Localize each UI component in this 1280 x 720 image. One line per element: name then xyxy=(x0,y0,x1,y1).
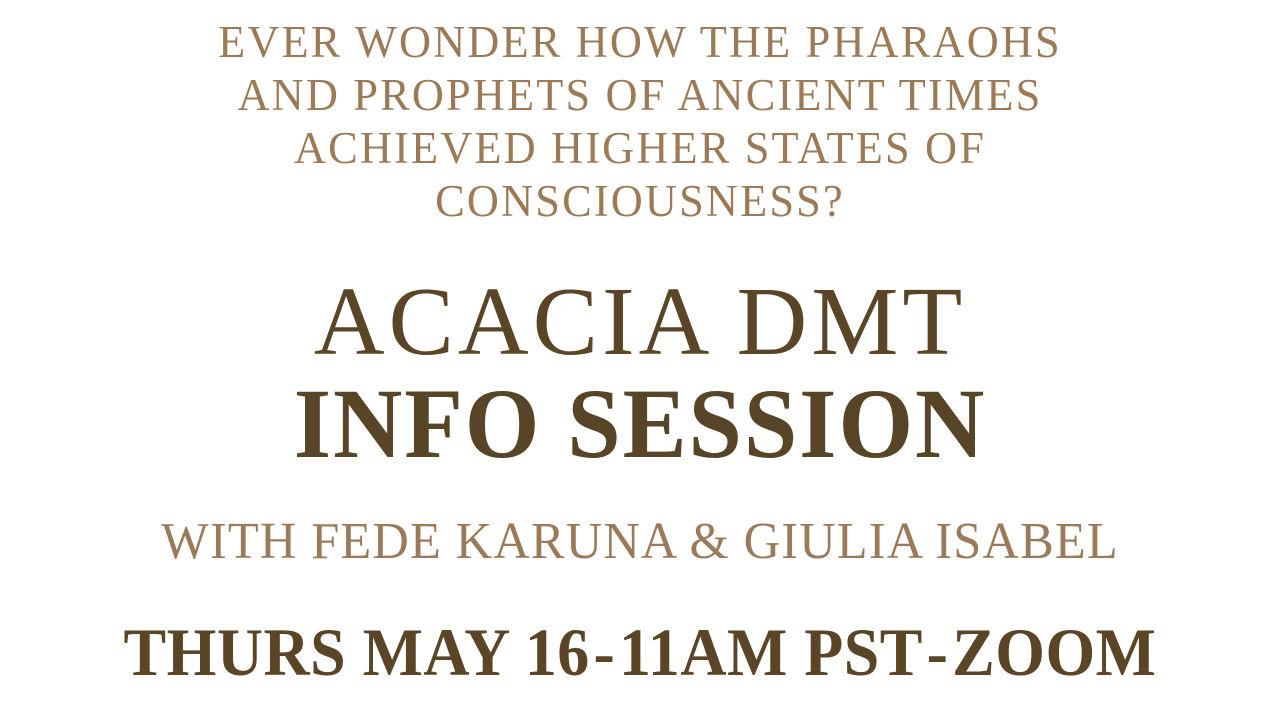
separator-2: - xyxy=(923,614,952,690)
event-time: 11AM PST xyxy=(619,614,923,690)
event-date: THURS MAY 16 xyxy=(124,614,590,690)
event-flyer: EVER WONDER HOW THE PHARAOHS AND PROPHET… xyxy=(0,0,1280,720)
title-line-info-session: INFO SESSION xyxy=(26,372,1255,476)
title-line-acacia-dmt: ACACIA DMT xyxy=(0,272,1280,372)
event-platform: ZOOM xyxy=(952,614,1156,690)
headline-line-1: EVER WONDER HOW THE PHARAOHS xyxy=(10,16,1271,69)
separator-1: - xyxy=(590,614,619,690)
headline-line-4: CONSCIOUSNESS? xyxy=(10,175,1271,228)
headline-line-3: ACHIEVED HIGHER STATES OF xyxy=(10,122,1271,175)
headline-question: EVER WONDER HOW THE PHARAOHS AND PROPHET… xyxy=(0,16,1280,228)
event-title: ACACIA DMT INFO SESSION xyxy=(0,272,1280,476)
presenters-line: WITH FEDE KARUNA & GIULIA ISABEL xyxy=(19,512,1261,572)
headline-line-2: AND PROPHETS OF ANCIENT TIMES xyxy=(10,69,1271,122)
event-details-line: THURS MAY 16-11AM PST-ZOOM xyxy=(38,612,1241,692)
